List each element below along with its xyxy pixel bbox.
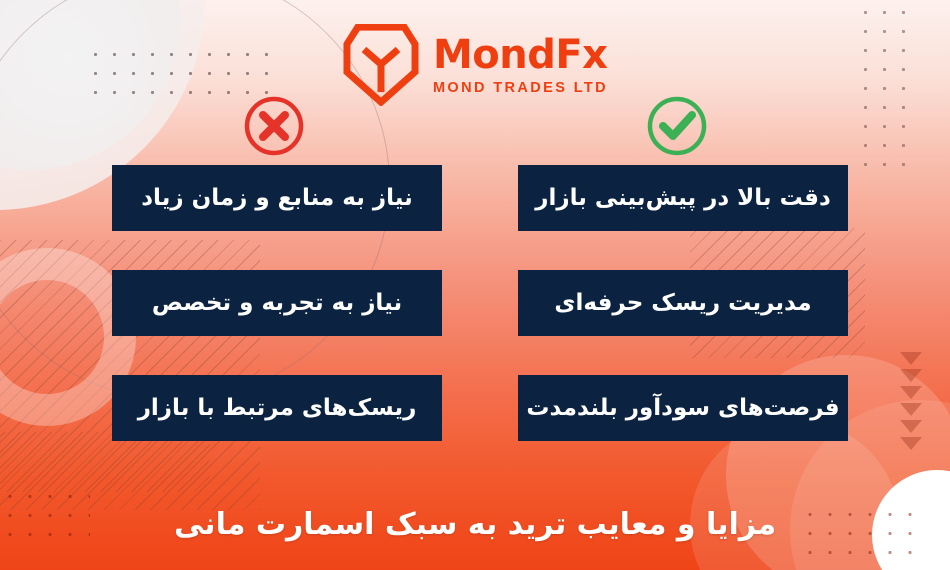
brand-name: MondFx <box>433 35 608 75</box>
pros-item-3[interactable]: فرصت‌های سودآور بلندمدت <box>518 375 848 441</box>
poster-headline: مزایا و معایب ترید به سبک اسمارت مانی <box>0 507 950 542</box>
pros-item-1-label: دقت بالا در پیش‌بینی بازار <box>535 185 831 211</box>
status-icon-row <box>0 95 950 159</box>
poster-headline-text: مزایا و معایب ترید به سبک اسمارت مانی <box>174 507 776 542</box>
triangle-down-icon <box>900 420 922 433</box>
cons-item-3-label: ریسک‌های مرتبط با بازار <box>138 395 417 421</box>
shield-chevron-logo-icon <box>342 24 420 106</box>
brand-logo: MondFx MOND TRADES LTD <box>0 24 950 106</box>
triangle-down-icon <box>900 386 922 399</box>
brand-logo-text: MondFx MOND TRADES LTD <box>433 35 608 96</box>
pros-item-2[interactable]: مدیریت ریسک حرفه‌ای <box>518 270 848 336</box>
cons-item-2[interactable]: نیاز به تجربه و تخصص <box>112 270 442 336</box>
pros-item-3-label: فرصت‌های سودآور بلندمدت <box>526 395 839 421</box>
check-circle-icon <box>646 95 708 157</box>
pros-item-1[interactable]: دقت بالا در پیش‌بینی بازار <box>518 165 848 231</box>
brand-tagline: MOND TRADES LTD <box>433 81 608 96</box>
pros-column: دقت بالا در پیش‌بینی بازار مدیریت ریسک ح… <box>518 165 848 480</box>
decorative-triangle-column <box>900 352 922 450</box>
cons-item-3[interactable]: ریسک‌های مرتبط با بازار <box>112 375 442 441</box>
cross-circle-icon <box>243 95 305 157</box>
cons-item-1[interactable]: نیاز به منابع و زمان زیاد <box>112 165 442 231</box>
triangle-down-icon <box>900 403 922 416</box>
cons-column: نیاز به منابع و زمان زیاد نیاز به تجربه … <box>112 165 442 480</box>
infographic-poster: MondFx MOND TRADES LTD نیاز به منابع و ز… <box>0 0 950 570</box>
triangle-down-icon <box>900 369 922 382</box>
pros-item-2-label: مدیریت ریسک حرفه‌ای <box>554 290 811 316</box>
triangle-down-icon <box>900 437 922 450</box>
cons-item-2-label: نیاز به تجربه و تخصص <box>152 290 402 316</box>
triangle-down-icon <box>900 352 922 365</box>
cons-item-1-label: نیاز به منابع و زمان زیاد <box>141 185 413 211</box>
